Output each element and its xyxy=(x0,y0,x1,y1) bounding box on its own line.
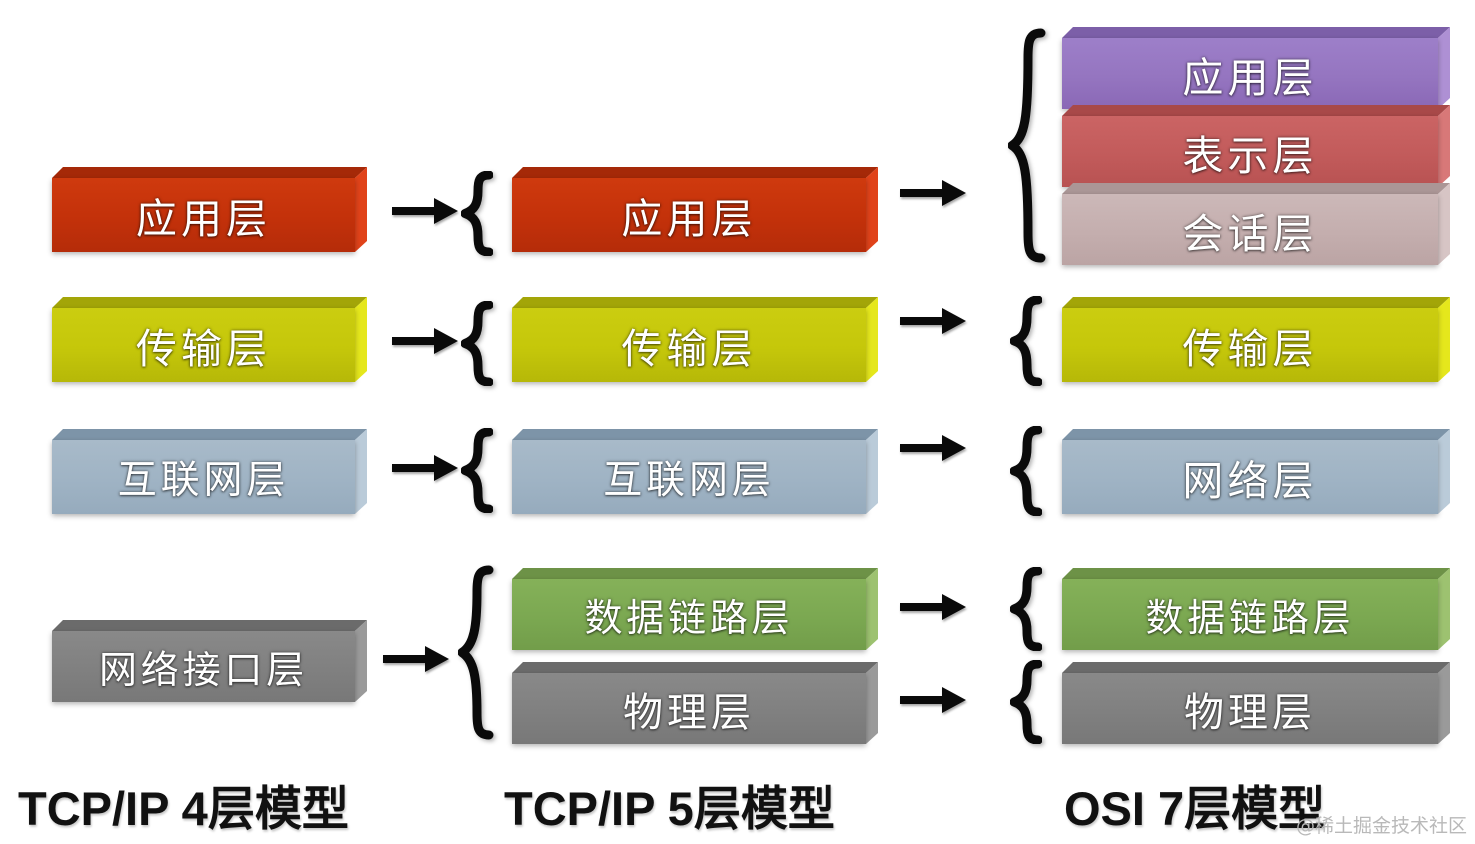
layer-box-presentation-osi[interactable]: 表示层 xyxy=(1062,105,1450,187)
layer-label: 互联网层 xyxy=(603,449,775,505)
curly-brace-icon-transport-2 xyxy=(1010,296,1042,386)
box-top-face xyxy=(1062,297,1450,308)
box-side-face xyxy=(1438,27,1450,109)
layer-label: 会话层 xyxy=(1182,200,1317,260)
box-side-face xyxy=(1438,105,1450,187)
layer-box-transport-tcp5[interactable]: 传输层 xyxy=(512,297,878,382)
layer-label: 表示层 xyxy=(1182,122,1317,182)
box-side-face xyxy=(1438,297,1450,382)
layer-label: 应用层 xyxy=(621,185,756,245)
arrow-right-icon-transport-2 xyxy=(900,306,966,336)
layer-box-internet-tcp5[interactable]: 互联网层 xyxy=(512,429,878,514)
curly-brace-icon-physical-2 xyxy=(1010,660,1042,744)
box-side-face xyxy=(355,620,367,702)
watermark: @稀土掘金技术社区 xyxy=(1296,811,1467,838)
box-front-face: 应用层 xyxy=(52,178,355,252)
layer-label: 网络接口层 xyxy=(99,639,308,694)
layer-box-session-osi[interactable]: 会话层 xyxy=(1062,183,1450,265)
box-side-face xyxy=(1438,429,1450,514)
column-caption-tcpip4: TCP/IP 4层模型 xyxy=(18,770,349,839)
arrow-right-icon-app-2 xyxy=(900,178,966,208)
arrow-right-icon-physical-2 xyxy=(900,685,966,715)
box-top-face xyxy=(52,167,367,178)
layer-label: 应用层 xyxy=(1182,44,1317,104)
layer-box-app-tcp4[interactable]: 应用层 xyxy=(52,167,367,252)
layer-box-transport-osi[interactable]: 传输层 xyxy=(1062,297,1450,382)
box-top-face xyxy=(512,167,878,178)
curly-brace-icon-netiface-1 xyxy=(458,565,494,740)
box-front-face: 互联网层 xyxy=(512,440,866,514)
box-side-face xyxy=(866,429,878,514)
curly-brace-icon-transport-1 xyxy=(461,301,493,386)
layer-box-internet-tcp4[interactable]: 互联网层 xyxy=(52,429,367,514)
box-side-face xyxy=(866,662,878,744)
box-top-face xyxy=(52,297,367,308)
arrow-right-icon-internet-1 xyxy=(392,453,458,483)
layer-box-physical-tcp5[interactable]: 物理层 xyxy=(512,662,878,744)
box-front-face: 网络层 xyxy=(1062,440,1438,514)
box-front-face: 物理层 xyxy=(512,673,866,744)
arrow-right-icon-transport-1 xyxy=(392,326,458,356)
arrow-right-icon-datalink-2 xyxy=(900,592,966,622)
layer-box-app-tcp5[interactable]: 应用层 xyxy=(512,167,878,252)
box-side-face xyxy=(355,167,367,252)
box-top-face xyxy=(52,429,367,440)
layer-box-datalink-osi[interactable]: 数据链路层 xyxy=(1062,568,1450,650)
curly-brace-icon-app-1 xyxy=(461,171,493,256)
box-front-face: 数据链路层 xyxy=(512,579,866,650)
box-top-face xyxy=(52,620,367,631)
curly-brace-icon-datalink-2 xyxy=(1010,567,1042,651)
layer-label: 传输层 xyxy=(621,315,756,375)
box-front-face: 传输层 xyxy=(52,308,355,382)
layer-box-physical-osi[interactable]: 物理层 xyxy=(1062,662,1450,744)
layer-label: 物理层 xyxy=(623,680,755,738)
box-top-face xyxy=(512,429,878,440)
box-top-face xyxy=(512,662,878,673)
box-side-face xyxy=(1438,183,1450,265)
layer-box-datalink-tcp5[interactable]: 数据链路层 xyxy=(512,568,878,650)
box-top-face xyxy=(1062,27,1450,38)
box-top-face xyxy=(512,568,878,579)
box-side-face xyxy=(355,429,367,514)
arrow-right-icon-app-1 xyxy=(392,196,458,226)
box-side-face xyxy=(866,167,878,252)
box-front-face: 物理层 xyxy=(1062,673,1438,744)
curly-brace-icon-app-2 xyxy=(1008,28,1046,263)
layer-label: 传输层 xyxy=(1182,315,1317,375)
box-side-face xyxy=(1438,568,1450,650)
column-caption-osi7: OSI 7层模型 xyxy=(1064,770,1325,839)
box-top-face xyxy=(1062,183,1450,194)
arrow-right-icon-internet-2 xyxy=(900,433,966,463)
layer-label: 应用层 xyxy=(136,185,271,245)
box-top-face xyxy=(1062,429,1450,440)
arrow-right-icon-netiface-1 xyxy=(383,644,449,674)
box-side-face xyxy=(866,297,878,382)
layer-label: 传输层 xyxy=(136,315,271,375)
column-caption-tcpip5: TCP/IP 5层模型 xyxy=(504,770,835,839)
box-top-face xyxy=(512,297,878,308)
box-front-face: 数据链路层 xyxy=(1062,579,1438,650)
layer-label: 物理层 xyxy=(1184,680,1316,738)
layer-box-app-osi[interactable]: 应用层 xyxy=(1062,27,1450,109)
box-side-face xyxy=(866,568,878,650)
box-front-face: 应用层 xyxy=(512,178,866,252)
layer-label: 数据链路层 xyxy=(1145,587,1354,642)
box-top-face xyxy=(1062,662,1450,673)
box-top-face xyxy=(1062,568,1450,579)
layer-label: 网络层 xyxy=(1182,447,1317,507)
box-front-face: 传输层 xyxy=(1062,308,1438,382)
layer-box-transport-tcp4[interactable]: 传输层 xyxy=(52,297,367,382)
curly-brace-icon-network-2 xyxy=(1010,426,1042,516)
box-front-face: 互联网层 xyxy=(52,440,355,514)
layer-label: 互联网层 xyxy=(118,449,290,505)
box-front-face: 会话层 xyxy=(1062,194,1438,265)
box-front-face: 传输层 xyxy=(512,308,866,382)
box-side-face xyxy=(1438,662,1450,744)
layer-label: 数据链路层 xyxy=(584,587,793,642)
layer-box-network-osi[interactable]: 网络层 xyxy=(1062,429,1450,514)
box-side-face xyxy=(355,297,367,382)
layer-box-netiface-tcp4[interactable]: 网络接口层 xyxy=(52,620,367,702)
curly-brace-icon-internet-1 xyxy=(461,428,493,513)
box-front-face: 表示层 xyxy=(1062,116,1438,187)
box-front-face: 网络接口层 xyxy=(52,631,355,702)
box-front-face: 应用层 xyxy=(1062,38,1438,109)
box-top-face xyxy=(1062,105,1450,116)
diagram-canvas: 应用层 传输层 互联网层 网络接口层 xyxy=(0,0,1475,844)
